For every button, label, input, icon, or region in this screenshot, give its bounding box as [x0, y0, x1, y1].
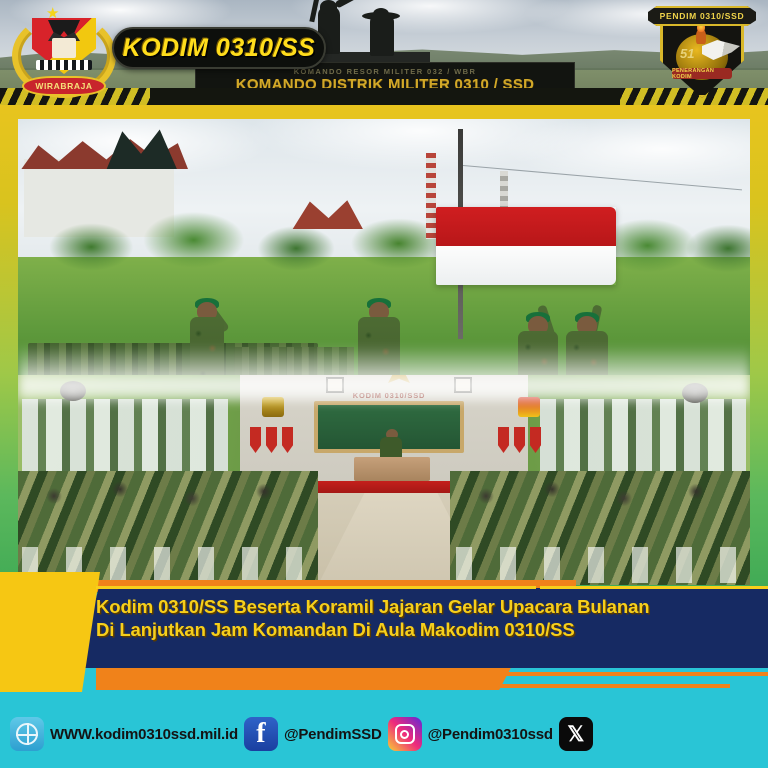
- facebook-f-glyph: f: [256, 720, 265, 748]
- flag-raising-ceremony-photo: [18, 119, 750, 377]
- kodim-title-text: KODIM 0310/SS: [123, 34, 316, 63]
- caption-line-2: Di Lanjutkan Jam Komandan Di Aula Makodi…: [96, 619, 756, 642]
- facebook-handle[interactable]: @PendimSSD: [284, 726, 382, 743]
- wirabraja-ribbon: WIRABRAJA: [22, 76, 106, 96]
- white-chairs-right: [456, 547, 746, 583]
- footer-social-bar: WWW.kodim0310ssd.mil.id f @PendimSSD @Pe…: [0, 700, 768, 768]
- caption-accent-stripe-1: [500, 672, 768, 676]
- wirabraja-ribbon-text: WIRABRAJA: [35, 81, 92, 91]
- photo-frame: KODIM 0310/SSD: [0, 105, 768, 593]
- facebook-icon[interactable]: f: [244, 717, 278, 751]
- instagram-icon[interactable]: [388, 717, 422, 751]
- instagram-square-glyph: [395, 724, 415, 744]
- hazard-stripe-mask: [150, 88, 620, 105]
- website-icon[interactable]: [10, 717, 44, 751]
- photo-blend-feather: [18, 345, 750, 401]
- pendim-scroll-text: PENERANGAN KODIM: [672, 68, 732, 80]
- x-glyph: 𝕏: [567, 724, 584, 745]
- pendim-banner: PENDIM 0310/SSD: [648, 6, 756, 26]
- assembly-hall-photo: KODIM 0310/SSD: [18, 375, 750, 585]
- signboard-subtitle: KOMANDO RESOR MILITER 032 / WBR: [294, 67, 477, 76]
- pendim-number: 51: [680, 46, 694, 61]
- kodim-title-badge: KODIM 0310/SS: [112, 27, 326, 69]
- instagram-lens-glyph: [400, 730, 409, 739]
- caption-yellow-wedge: [0, 572, 100, 692]
- flag-red-stripe: [436, 207, 616, 246]
- twitter-x-icon[interactable]: 𝕏: [559, 717, 593, 751]
- statue-civilian-hat: [362, 12, 400, 20]
- website-url[interactable]: WWW.kodim0310ssd.mil.id: [50, 726, 238, 743]
- pendim-banner-text: PENDIM 0310/SSD: [660, 11, 745, 21]
- pendim-emblem-icon: 51 PENERANGAN KODIM PENDIM 0310/SSD: [646, 2, 758, 102]
- globe-icon: [16, 723, 38, 745]
- caption-text-block: Kodim 0310/SS Beserta Koramil Jajaran Ge…: [96, 596, 756, 641]
- rumah-gadang-icon: [52, 38, 76, 58]
- statue-figure-civilian: [370, 14, 394, 56]
- caption-line-1: Kodim 0310/SS Beserta Koramil Jajaran Ge…: [96, 596, 756, 619]
- speaker-desk: [354, 457, 430, 481]
- instagram-handle[interactable]: @Pendim0310ssd: [428, 726, 553, 743]
- photo-antenna-tower: [426, 153, 436, 239]
- poster-root: KOMANDO RESOR MILITER 032 / WBR KOMANDO …: [0, 0, 768, 768]
- flag-white-stripe: [436, 246, 616, 285]
- caption-top-accent-left: [96, 586, 536, 589]
- caption-accent-stripe-2: [500, 684, 730, 688]
- wirabraja-emblem-icon: WIRABRAJA: [8, 4, 120, 102]
- indonesian-flag: [436, 207, 616, 285]
- pendim-scroll: PENERANGAN KODIM: [672, 68, 732, 79]
- photo-stack: KODIM 0310/SSD: [18, 119, 750, 585]
- caption-top-accent-right: [540, 586, 768, 589]
- photo-treeline: [18, 205, 750, 275]
- water-band: [36, 60, 92, 70]
